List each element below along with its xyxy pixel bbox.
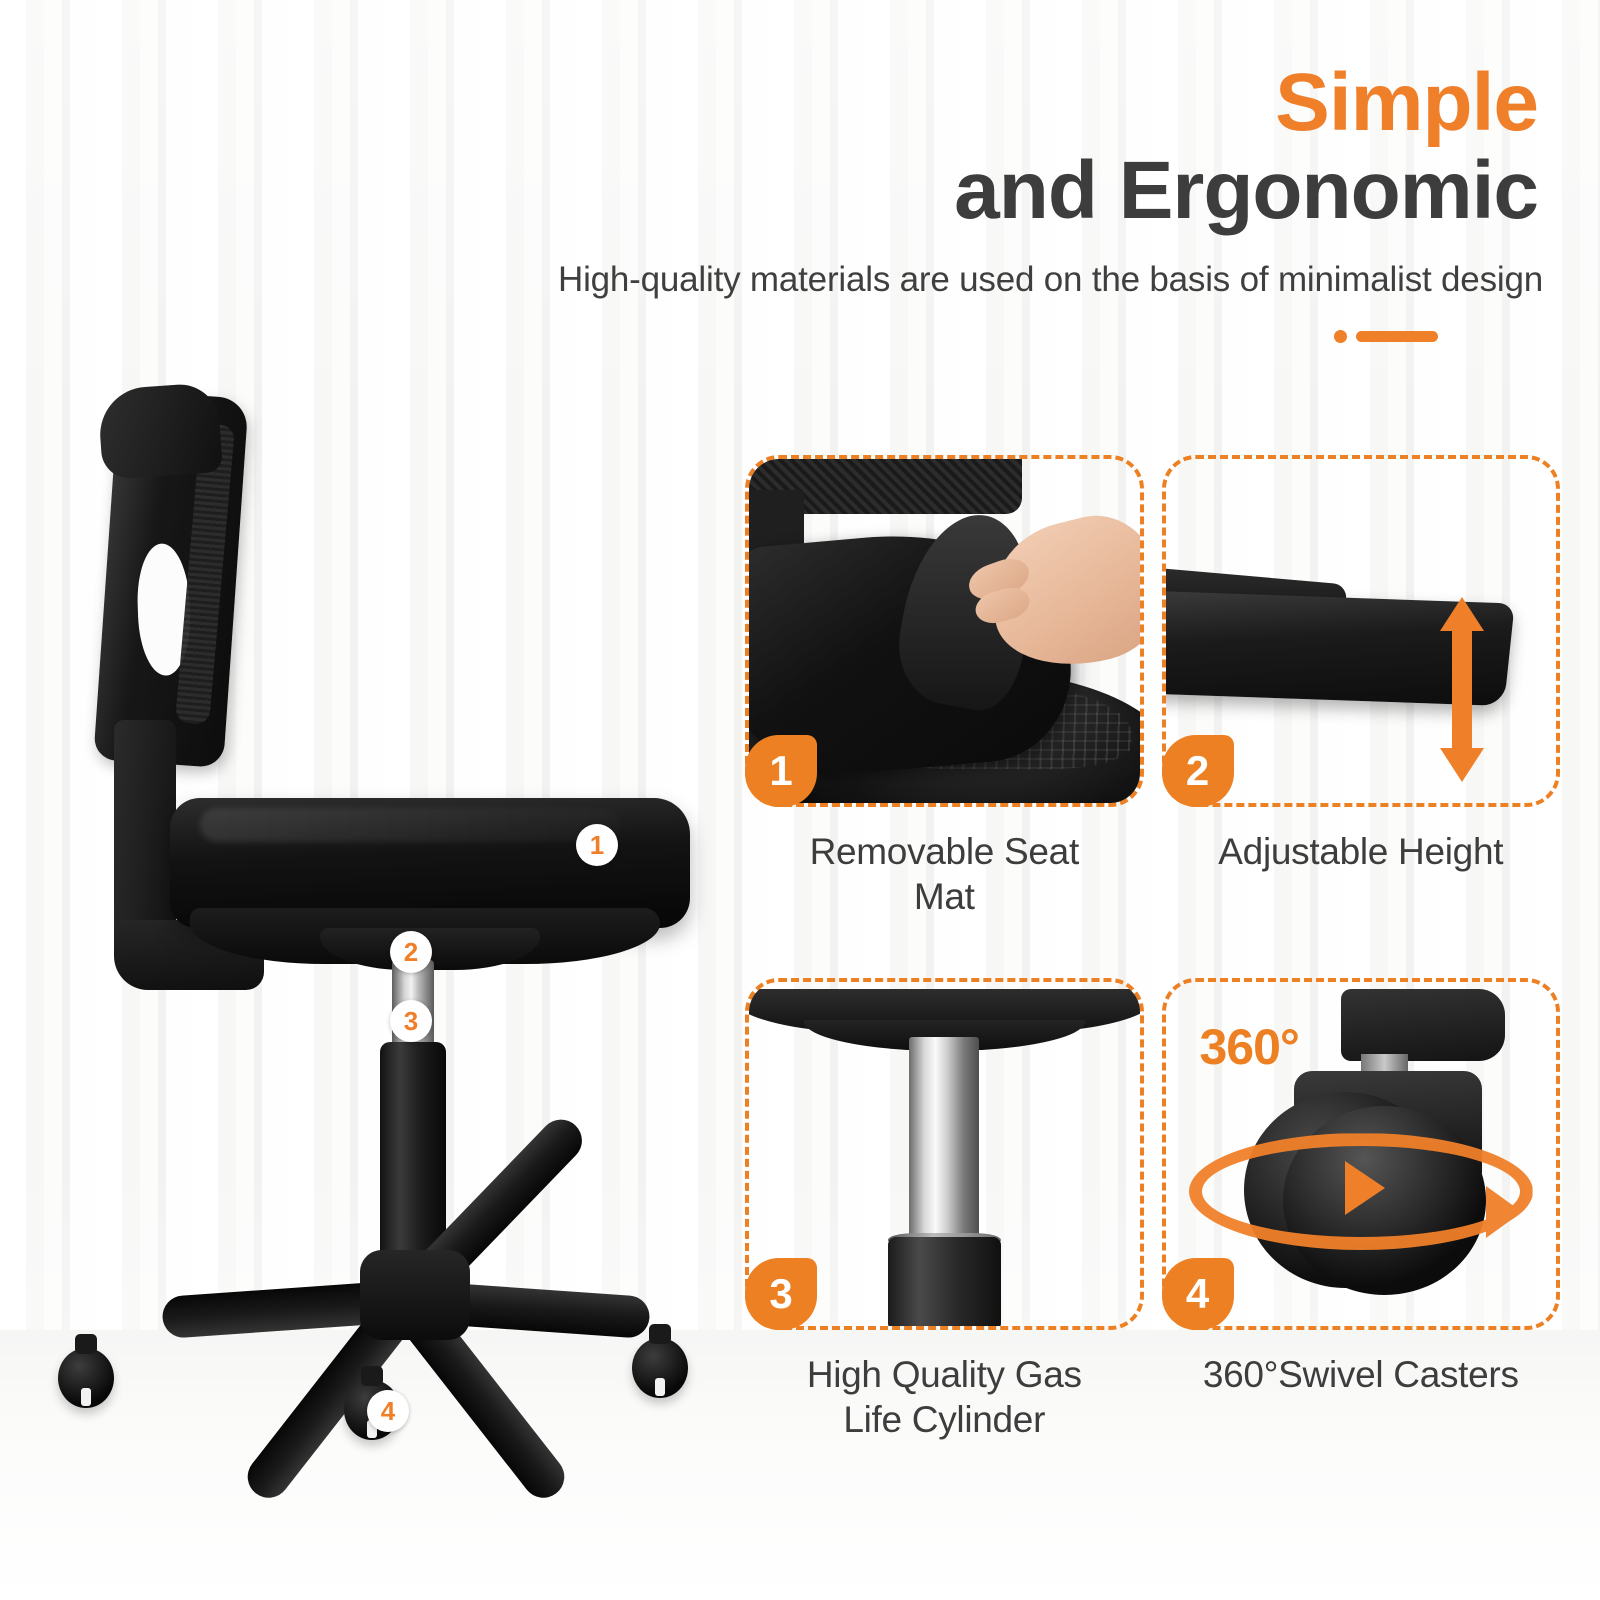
page-title-line2: and Ergonomic: [558, 148, 1538, 234]
feature-caption-line1: High Quality Gas: [749, 1352, 1140, 1397]
chair-marker-3: 3: [390, 1000, 432, 1042]
header-block: Simple and Ergonomic High-quality materi…: [558, 60, 1538, 343]
feature-caption: Removable Seat Mat: [745, 829, 1144, 919]
chair-product-photo: 1 2 3 4: [40, 380, 740, 1500]
feature-caption-line1: 360°Swivel Casters: [1166, 1352, 1557, 1397]
feature-caption: High Quality Gas Life Cylinder: [745, 1352, 1144, 1442]
accent-bar: [1356, 331, 1438, 342]
feature-card-frame: 3: [745, 978, 1144, 1330]
feature-card-frame: 360° 4: [1162, 978, 1561, 1330]
feature-card-frame: 2: [1162, 455, 1561, 807]
chair-caster: [632, 1338, 688, 1398]
feature-caption-line1: Adjustable Height: [1166, 829, 1557, 874]
chair-marker-2: 2: [390, 931, 432, 973]
feature-caption-line2: Mat: [749, 874, 1140, 919]
page-title-line1: Simple: [558, 60, 1538, 146]
feature-caption-line2: Life Cylinder: [749, 1397, 1140, 1442]
accent-divider: [558, 330, 1538, 343]
feature-number-badge: 4: [1162, 1258, 1234, 1330]
feature-card-frame: 1: [745, 455, 1144, 807]
chair-base-hub: [360, 1250, 470, 1340]
chair-caster: [58, 1348, 114, 1408]
rotation-arrowhead-icon: [1345, 1161, 1385, 1215]
feature-number-badge: 1: [745, 735, 817, 807]
feature-card-swivel-casters[interactable]: 360° 4 360°Swivel Casters: [1162, 978, 1561, 1465]
page-subtitle: High-quality materials are used on the b…: [558, 260, 1538, 300]
feature-caption-line1: Removable Seat: [749, 829, 1140, 874]
feature-card-grid: 1 Removable Seat Mat 2 Adjustable Height: [745, 455, 1560, 1465]
chair-marker-1: 1: [576, 824, 618, 866]
feature-caption: Adjustable Height: [1162, 829, 1561, 874]
feature-caption: 360°Swivel Casters: [1162, 1352, 1561, 1397]
seat-highlight: [200, 808, 620, 842]
feature-card-adjustable-height[interactable]: 2 Adjustable Height: [1162, 455, 1561, 942]
chair-marker-4: 4: [367, 1390, 409, 1432]
feature-number-badge: 2: [1162, 735, 1234, 807]
degrees-360-label: 360°: [1200, 1018, 1299, 1076]
feature-card-removable-seat-mat[interactable]: 1 Removable Seat Mat: [745, 455, 1144, 942]
accent-dot: [1334, 330, 1347, 343]
up-down-arrow-icon: [1419, 597, 1505, 783]
backrest-top-curve: [97, 382, 223, 480]
feature-card-gas-cylinder[interactable]: 3 High Quality Gas Life Cylinder: [745, 978, 1144, 1465]
feature-number-badge: 3: [745, 1258, 817, 1330]
